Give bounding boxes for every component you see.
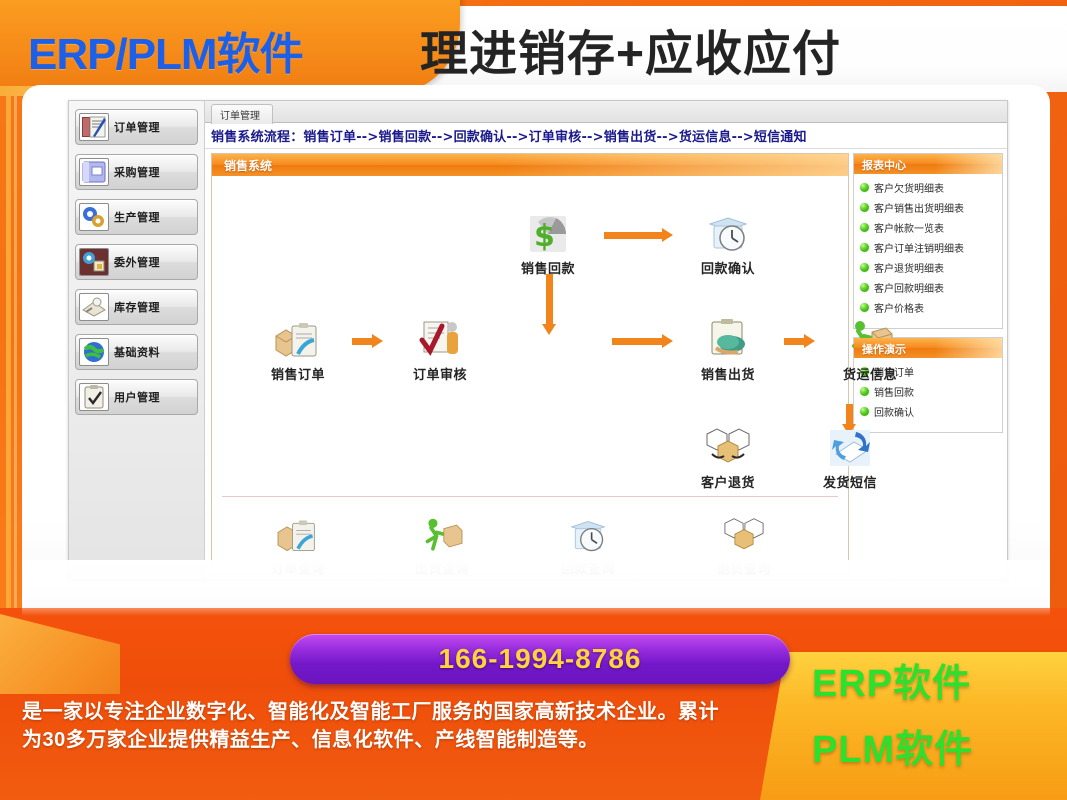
sidebar-item-label: 基础资料 xyxy=(114,344,160,360)
report-item[interactable]: 客户销售出货明细表 xyxy=(860,200,998,215)
check-document-icon xyxy=(394,316,486,362)
flow-node-label: 回款确认 xyxy=(682,258,774,277)
poster-canvas: 理进销存+应收应付 ERP/PLM软件 xyxy=(0,0,1067,800)
boxes-clipboard-icon xyxy=(252,510,344,556)
sidebar-item-basic-data[interactable]: 基础资料 xyxy=(75,334,198,370)
return-boxes-icon xyxy=(682,424,774,470)
demo-item-label: 回款确认 xyxy=(874,404,914,419)
report-center-panel: 报表中心 客户欠货明细表 客户销售出货明细表 xyxy=(853,153,1003,329)
app-main-area: 订单管理 销售系统流程：销售订单-->销售回款-->回款确认-->订单审核-->… xyxy=(205,101,1008,580)
clock-window-icon xyxy=(542,510,634,556)
sidebar-item-production-management[interactable]: 生产管理 xyxy=(75,199,198,235)
green-text-erp: ERP软件 xyxy=(812,652,971,707)
flow-node-label: 订单审核 xyxy=(394,364,486,383)
demo-item[interactable]: 回款确认 xyxy=(860,404,998,419)
arrow-payment-to-confirm xyxy=(604,228,676,242)
sales-system-title: 销售系统 xyxy=(212,154,272,174)
report-item-label: 客户退货明细表 xyxy=(874,260,944,275)
sidebar-item-purchase-management[interactable]: 采购管理 xyxy=(75,154,198,190)
return-boxes-icon xyxy=(698,510,790,556)
flow-node-sales-payment[interactable]: $ 销售回款 xyxy=(502,210,594,277)
company-blurb: 是一家以专注企业数字化、智能化及智能工厂服务的国家高新技术企业。累计为30多万家… xyxy=(22,698,722,755)
report-item-label: 客户销售出货明细表 xyxy=(874,200,964,215)
sidebar-item-label: 生产管理 xyxy=(114,209,160,225)
clock-window-icon xyxy=(682,210,774,256)
report-item[interactable]: 客户帐款一览表 xyxy=(860,220,998,235)
svg-text:$: $ xyxy=(534,219,555,254)
green-bullet-icon xyxy=(860,243,869,252)
green-bullet-icon xyxy=(860,283,869,292)
report-item-label: 客户帐款一览表 xyxy=(874,220,944,235)
green-bullet-icon xyxy=(860,407,869,416)
flow-node-order-audit[interactable]: 订单审核 xyxy=(394,316,486,383)
header-title-black: 理进销存+应收应付 xyxy=(420,14,841,84)
demo-item-label: 销售回款 xyxy=(874,384,914,399)
app-work-row: 销售系统 $ xyxy=(205,149,1008,580)
sidebar-item-label: 订单管理 xyxy=(114,119,160,135)
sms-sync-icon xyxy=(804,424,896,470)
arrow-payment-down xyxy=(542,274,556,338)
sidebar-item-label: 采购管理 xyxy=(114,164,160,180)
gears-icon xyxy=(79,203,109,231)
tab-order-management[interactable]: 订单管理 xyxy=(211,104,273,124)
app-sidebar: 订单管理 采购管理 xyxy=(69,101,205,580)
globe-icon xyxy=(79,338,109,366)
app-tabstrip: 订单管理 xyxy=(205,101,1008,123)
arrow-order-to-audit xyxy=(352,334,386,348)
boxes-clipboard-icon xyxy=(252,316,344,362)
report-item[interactable]: 客户欠货明细表 xyxy=(860,180,998,195)
app-screenshot: 订单管理 采购管理 xyxy=(68,100,1008,580)
green-bullet-icon xyxy=(860,263,869,272)
demo-item[interactable]: 销售回款 xyxy=(860,384,998,399)
report-item-label: 客户欠货明细表 xyxy=(874,180,944,195)
operation-demo-header: 操作演示 xyxy=(854,338,1002,358)
report-item[interactable]: 客户订单注销明细表 xyxy=(860,240,998,255)
money-chart-icon: $ xyxy=(502,210,594,256)
report-item[interactable]: 客户退货明细表 xyxy=(860,260,998,275)
outsource-gear-icon xyxy=(79,248,109,276)
sidebar-item-user-management[interactable]: 用户管理 xyxy=(75,379,198,415)
panel-bottom-fade xyxy=(22,560,1050,616)
inventory-box-icon xyxy=(79,293,109,321)
phone-number: 166-1994-8786 xyxy=(439,643,642,675)
header-title-blue: ERP/PLM软件 xyxy=(28,18,303,82)
report-center-list: 客户欠货明细表 客户销售出货明细表 客户帐款一览表 xyxy=(854,174,1002,328)
report-item[interactable]: 客户回款明细表 xyxy=(860,280,998,295)
report-item[interactable]: 客户价格表 xyxy=(860,300,998,315)
green-bullet-icon xyxy=(860,183,869,192)
flow-node-sales-order[interactable]: 销售订单 xyxy=(252,316,344,383)
sidebar-item-label: 委外管理 xyxy=(114,254,160,270)
operation-demo-title: 操作演示 xyxy=(854,338,1002,357)
arrow-to-shipment xyxy=(612,334,676,348)
operation-demo-panel: 操作演示 销售订单 销售回款 xyxy=(853,337,1003,433)
sidebar-item-order-management[interactable]: 订单管理 xyxy=(75,109,198,145)
header-glow xyxy=(498,154,848,176)
flow-node-customer-return[interactable]: 客户退货 xyxy=(682,424,774,491)
flow-process-header: 销售系统流程：销售订单-->销售回款-->回款确认-->订单审核-->销售出货-… xyxy=(205,123,1008,149)
order-book-icon xyxy=(79,113,109,141)
flow-node-label: 货运信息 xyxy=(824,364,916,383)
flow-node-label: 销售订单 xyxy=(252,364,344,383)
flow-node-payment-confirm[interactable]: 回款确认 xyxy=(682,210,774,277)
sidebar-item-label: 库存管理 xyxy=(114,299,160,315)
flow-canvas-panel: 销售系统 $ xyxy=(211,153,849,575)
flow-node-label: 销售出货 xyxy=(682,364,774,383)
sidebar-item-outsourcing-management[interactable]: 委外管理 xyxy=(75,244,198,280)
clipboard-cash-icon xyxy=(682,316,774,362)
green-bullet-icon xyxy=(860,303,869,312)
green-bullet-icon xyxy=(860,387,869,396)
poster-header: 理进销存+应收应付 ERP/PLM软件 xyxy=(0,0,1067,96)
report-center-header: 报表中心 xyxy=(854,154,1002,174)
sidebar-item-inventory-management[interactable]: 库存管理 xyxy=(75,289,198,325)
green-bullet-icon xyxy=(860,223,869,232)
flow-node-shipping-sms[interactable]: 发货短信 xyxy=(804,424,896,491)
arrow-shipment-to-freight xyxy=(784,334,818,348)
clipboard-check-icon xyxy=(79,383,109,411)
green-bullet-icon xyxy=(860,203,869,212)
sales-system-header: 销售系统 xyxy=(212,154,848,176)
report-item-label: 客户回款明细表 xyxy=(874,280,944,295)
report-center-title: 报表中心 xyxy=(854,154,1002,173)
phone-pill[interactable]: 166-1994-8786 xyxy=(290,634,790,684)
flow-node-label: 发货短信 xyxy=(804,472,896,491)
green-text-plm: PLM软件 xyxy=(812,718,973,773)
runner-box-icon xyxy=(396,510,488,556)
purchase-book-icon xyxy=(79,158,109,186)
sidebar-item-label: 用户管理 xyxy=(114,389,160,405)
flow-node-label: 客户退货 xyxy=(682,472,774,491)
report-item-label: 客户订单注销明细表 xyxy=(874,240,964,255)
flow-node-sales-shipment[interactable]: 销售出货 xyxy=(682,316,774,383)
report-item-label: 客户价格表 xyxy=(874,300,924,315)
section-divider xyxy=(222,496,838,497)
flow-canvas: $ 销售回款 xyxy=(212,176,848,574)
